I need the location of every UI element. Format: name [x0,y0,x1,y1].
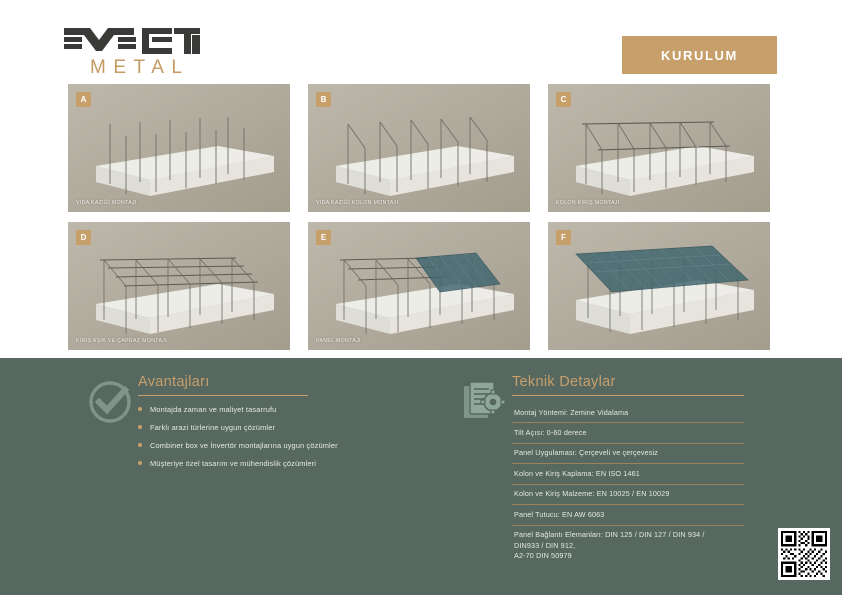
step-caption: VİDA KAZIĞI MONTAJI [76,200,137,206]
technical-details-list: Montaj Yöntemi: Zemine Vidalama Tilt Açı… [512,403,744,566]
list-item: Müşteriye özel tasarım ve mühendislik çö… [138,459,338,468]
step-badge: F [556,230,571,245]
step-e-illustration [308,222,530,350]
step-badge: E [316,230,331,245]
mct-logomark-icon [62,26,202,56]
brand-wordmark: METAL [90,57,189,79]
step-caption: VİDA KAZIĞI KOLON MONTAJI [316,200,398,206]
list-item: Montaj Yöntemi: Zemine Vidalama [512,403,744,423]
step-a-illustration [68,84,290,212]
list-item: Panel Tutucu: EN AW 6063 [512,505,744,525]
step-c-illustration [548,84,770,212]
list-item: Panel Uygulaması: Çerçeveli ve çerçevesi… [512,444,744,464]
brand-logo: METAL [62,26,212,76]
step-badge: D [76,230,91,245]
section-title-label: KURULUM [661,48,738,63]
list-item: Tilt Açısı: 0-60 derece [512,423,744,443]
installation-step-panel[interactable]: A VİDA KAZIĞI MONTAJI [68,84,290,212]
installation-step-panel[interactable]: F [548,222,770,350]
step-badge: A [76,92,91,107]
installation-step-panel[interactable]: E PANEL MONTAJI [308,222,530,350]
step-badge: B [316,92,331,107]
installation-step-panel[interactable]: B VİDA KAZIĞI KOLON MONTAJI [308,84,530,212]
page-footer: Avantajları Montajda zaman ve maliyet ta… [0,358,842,595]
step-caption: KİRİŞ AŞIK VE ÇAPRAZ MONTAJI [76,338,167,344]
technical-details-title: Teknik Detaylar [512,374,744,390]
qr-code[interactable] [778,528,830,580]
step-b-illustration [308,84,530,212]
check-circle-icon [86,378,134,426]
qr-code-image [781,531,827,577]
list-item: Combiner box ve İnvertör montajlarına uy… [138,441,338,450]
advantages-title-rule [138,395,308,396]
technical-title-rule [512,395,744,396]
step-caption: PANEL MONTAJI [316,338,361,344]
list-item: Panel Bağlantı Elemanları: DIN 125 / DIN… [512,526,744,566]
list-item: Farklı arazi türlerine uygun çözümler [138,423,338,432]
installation-step-grid: A VİDA KAZIĞI MONTAJI B VİDA KAZIĞI KOLO… [0,78,842,358]
step-badge: C [556,92,571,107]
advantages-list: Montajda zaman ve maliyet tasarrufu Fark… [138,405,338,468]
step-caption: KOLON KİRİŞ MONTAJI [556,200,620,206]
list-item: Kolon ve Kiriş Malzeme: EN 10025 / EN 10… [512,485,744,505]
installation-step-panel[interactable]: C KOLON KİRİŞ MONTAJI [548,84,770,212]
advantages-title: Avantajları [138,374,338,390]
document-gear-icon [460,378,508,426]
step-d-illustration [68,222,290,350]
list-item: Kolon ve Kiriş Kaplama: EN ISO 1461 [512,464,744,484]
list-item: Montajda zaman ve maliyet tasarrufu [138,405,338,414]
section-title-badge: KURULUM [622,36,777,74]
step-f-illustration [548,222,770,350]
installation-step-panel[interactable]: D KİRİŞ AŞIK VE ÇAPRAZ MONTAJI [68,222,290,350]
page-header: METAL KURULUM [0,0,842,78]
